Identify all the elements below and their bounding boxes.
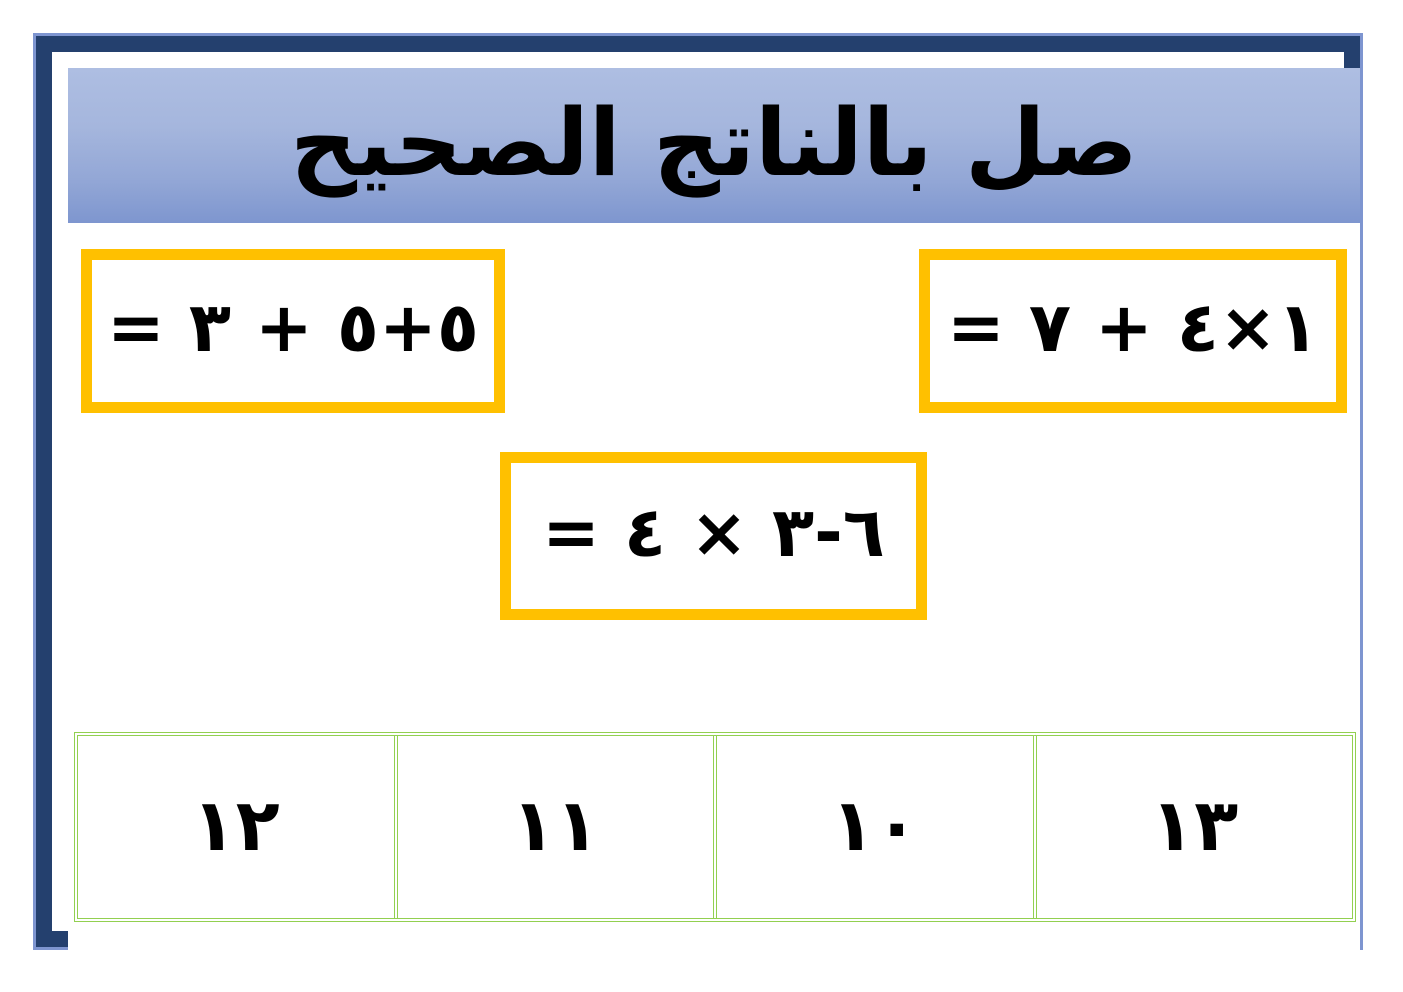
page-title: صل بالناتج الصحيح	[290, 97, 1138, 190]
equation-text-1: ٥+٥ + ٣ =	[107, 294, 479, 363]
equation-card-3[interactable]: ٦-٣ × ٤ =	[500, 452, 927, 620]
equation-card-2[interactable]: ١×٤ + ٧ =	[919, 249, 1347, 413]
worksheet-header: صل بالناتج الصحيح	[68, 68, 1360, 223]
worksheet-body: ٥+٥ + ٣ = ١×٤ + ٧ = ٦-٣ × ٤ = ١٣ ١٠ ١١	[68, 223, 1360, 953]
equation-text-3: ٦-٣ × ٤ =	[542, 499, 885, 568]
answer-value-3: ١١	[511, 789, 599, 861]
worksheet-frame: صل بالناتج الصحيح ٥+٥ + ٣ = ١×٤ + ٧ = ٦-…	[33, 33, 1363, 950]
answer-value-1: ١٣	[1150, 789, 1238, 861]
worksheet-frame-inner: صل بالناتج الصحيح ٥+٥ + ٣ = ١×٤ + ٧ = ٦-…	[36, 36, 1360, 947]
answer-cell-3[interactable]: ١١	[398, 736, 718, 918]
equation-text-2: ١×٤ + ٧ =	[947, 294, 1319, 363]
answer-value-4: ١٢	[192, 789, 280, 861]
answer-value-2: ١٠	[831, 789, 919, 861]
answer-cell-2[interactable]: ١٠	[717, 736, 1037, 918]
answer-cell-4[interactable]: ١٢	[78, 736, 398, 918]
equation-card-1[interactable]: ٥+٥ + ٣ =	[81, 249, 505, 413]
answer-cell-1[interactable]: ١٣	[1037, 736, 1353, 918]
answer-options-table: ١٣ ١٠ ١١ ١٢	[74, 732, 1356, 922]
